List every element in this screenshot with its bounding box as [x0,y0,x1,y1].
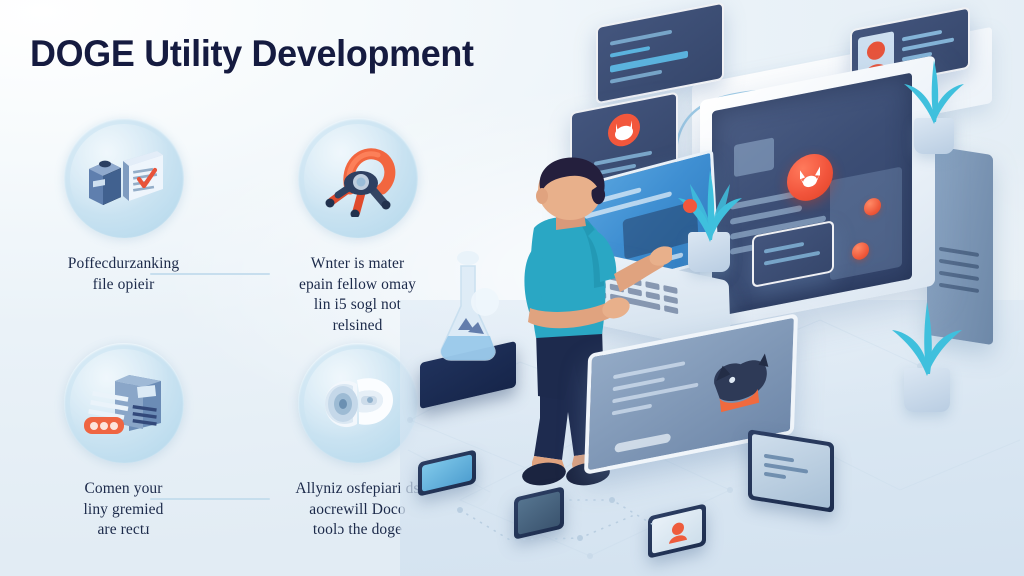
feature-grid: Poffecdurzanking file opieir [0,110,440,570]
doge-badge[interactable] [787,150,833,205]
document-checklist-icon [83,141,165,215]
feature-item-file-opener[interactable]: Poffecdurzanking file opieir [16,118,231,295]
device-connection-dots [400,300,1024,576]
illustration-isometric-workspace [400,0,1024,576]
doge-shiba-icon [796,162,824,193]
stacked-documents-icon [81,365,167,441]
wrench-pliers-icon [316,139,400,217]
screen-side-panel [830,167,902,281]
feature-icon-circle [64,118,184,238]
feature-item-documents[interactable]: Comen your liny gremied are rectɹ [16,343,231,541]
clamp-device-icon [315,366,401,440]
poster-canvas: DOGE Utility Development [0,0,1024,576]
plant-leaves-icon [672,168,748,244]
feature-icon-circle [64,343,184,463]
plant-leaves-icon [898,58,970,126]
feature-caption: Poffecdurzanking file opieir [16,254,231,295]
feature-caption: Comen your liny gremied are rectɹ [16,479,231,541]
